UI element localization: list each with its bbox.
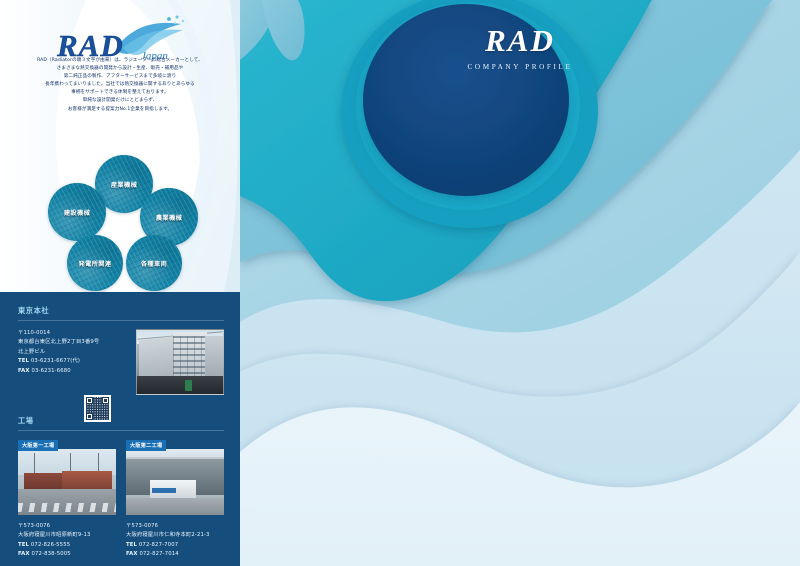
factory-photo [126, 449, 224, 515]
factory-address: 〒573-0076 大阪府寝屋川市昭原新町9-13 TEL 072-826-55… [18, 522, 116, 560]
qr-finder-top-right [102, 397, 109, 404]
intro-line: 長年携わってまいりました。当社では熱交換器に関するありとあらゆる [14, 81, 226, 89]
qr-finder-top-left [86, 397, 93, 404]
factory-fax-label: FAX [18, 551, 30, 557]
segment-label: 建設機械 [64, 208, 90, 217]
hq-tel-value: 03-6231-6677(代) [31, 358, 80, 364]
factory-fax-row: FAX 072-827-7014 [126, 550, 224, 559]
front-cover-panel: RAD COMPANY PROFILE [240, 0, 800, 566]
segment-circle-vehicles[interactable]: 各種車両 [126, 235, 182, 291]
photo-crosswalk [18, 503, 116, 512]
brochure-spread: RAD COMPANY PROFILE [0, 0, 800, 566]
factory-badge: 大阪第二工場 [126, 440, 166, 451]
back-cover-panel: RAD Japan RAD（Radiatorの頭３文字が由来）は、ラジエーターの… [0, 0, 240, 566]
factories-grid: 大阪第一工場 〒573-0076 [18, 440, 224, 560]
factory-postal: 〒573-0076 [126, 522, 224, 531]
hq-fax-label: FAX [18, 368, 30, 374]
factory-tel-row: TEL 072-826-5555 [18, 541, 116, 550]
factory-badge: 大阪第一工場 [18, 440, 58, 451]
intro-line: 単純な設計開発だけにとどまらず、 [14, 97, 226, 105]
factory-tel-value: 072-827-7007 [139, 542, 178, 548]
contact-panel: 東京本社 〒110-0014 東京都台東区北上野2丁目3番9号 北上野ビル TE… [0, 292, 240, 566]
cover-logo-text: RAD [400, 25, 640, 56]
headquarters-title: 東京本社 [18, 306, 224, 316]
intro-line: さまざまな熱交換器の開発から設計・生産、販売・補用品や [14, 65, 226, 73]
factory-fax-value: 072-838-5005 [32, 551, 71, 557]
cover-logo: RAD COMPANY PROFILE [400, 25, 640, 71]
segment-label: 農業機械 [156, 213, 182, 222]
intro-line: お客様が満足する提案力No.1企業を目指します。 [14, 106, 226, 114]
brand-logo: RAD Japan [57, 14, 192, 62]
segment-label: 発電所関連 [79, 259, 112, 268]
divider [18, 430, 224, 431]
segment-label: 各種車両 [141, 259, 167, 268]
factory-address-line: 大阪府寝屋川市仁和寺本町2-21-3 [126, 531, 224, 540]
headquarters-photo [136, 329, 224, 395]
factory-address-line: 大阪府寝屋川市昭原新町9-13 [18, 531, 116, 540]
photo-street-level [137, 376, 223, 394]
segment-circle-power-plant[interactable]: 発電所関連 [67, 235, 123, 291]
divider [18, 320, 224, 321]
factories-title: 工場 [18, 416, 224, 426]
factory-tel-value: 072-826-5555 [31, 542, 70, 548]
factory-address: 〒573-0076 大阪府寝屋川市仁和寺本町2-21-3 TEL 072-827… [126, 522, 224, 560]
intro-line: 第二純正品の製作、アフターサービスまで多岐に渡り [14, 73, 226, 81]
factory-fax-value: 072-827-7014 [140, 551, 179, 557]
factory-card: 大阪第一工場 〒573-0076 [18, 440, 116, 560]
photo-road [126, 498, 224, 515]
factory-card: 大阪第二工場 〒573-0076 大阪府寝屋川市仁和寺本町2-21-3 [126, 440, 224, 560]
intro-line: RAD（Radiatorの頭３文字が由来）は、ラジエーターの総合メーカーとして、 [14, 57, 226, 65]
photo-windows [173, 336, 207, 380]
business-segments-cluster: 産業機械 建設機械 農業機械 発電所関連 各種車両 [40, 155, 230, 290]
hq-tel-label: TEL [18, 358, 29, 364]
intro-paragraph: RAD（Radiatorの頭３文字が由来）は、ラジエーターの総合メーカーとして、… [14, 57, 226, 114]
segment-circle-construction[interactable]: 建設機械 [48, 183, 106, 241]
photo-signage [185, 380, 192, 391]
intro-line: 事柄をサポートできる体制を整えております。 [14, 89, 226, 97]
factory-tel-row: TEL 072-827-7007 [126, 541, 224, 550]
segment-label: 産業機械 [111, 180, 137, 189]
factory-tel-label: TEL [126, 542, 137, 548]
factories-block: 工場 大阪第一工場 [18, 416, 224, 560]
factory-fax-row: FAX 072-838-5005 [18, 550, 116, 559]
headquarters-block: 東京本社 〒110-0014 東京都台東区北上野2丁目3番9号 北上野ビル TE… [18, 306, 224, 421]
factory-postal: 〒573-0076 [18, 522, 116, 531]
factory-fax-label: FAX [126, 551, 138, 557]
hq-fax-value: 03-6231-6680 [32, 368, 71, 374]
cover-wave-artwork [240, 0, 800, 566]
cover-subtitle: COMPANY PROFILE [400, 63, 640, 71]
photo-truck-livery [152, 488, 176, 493]
headquarters-body: 〒110-0014 東京都台東区北上野2丁目3番9号 北上野ビル TEL 03-… [18, 329, 224, 421]
photo-factory-wall [62, 471, 112, 491]
factory-tel-label: TEL [18, 542, 29, 548]
factory-photo [18, 449, 116, 515]
